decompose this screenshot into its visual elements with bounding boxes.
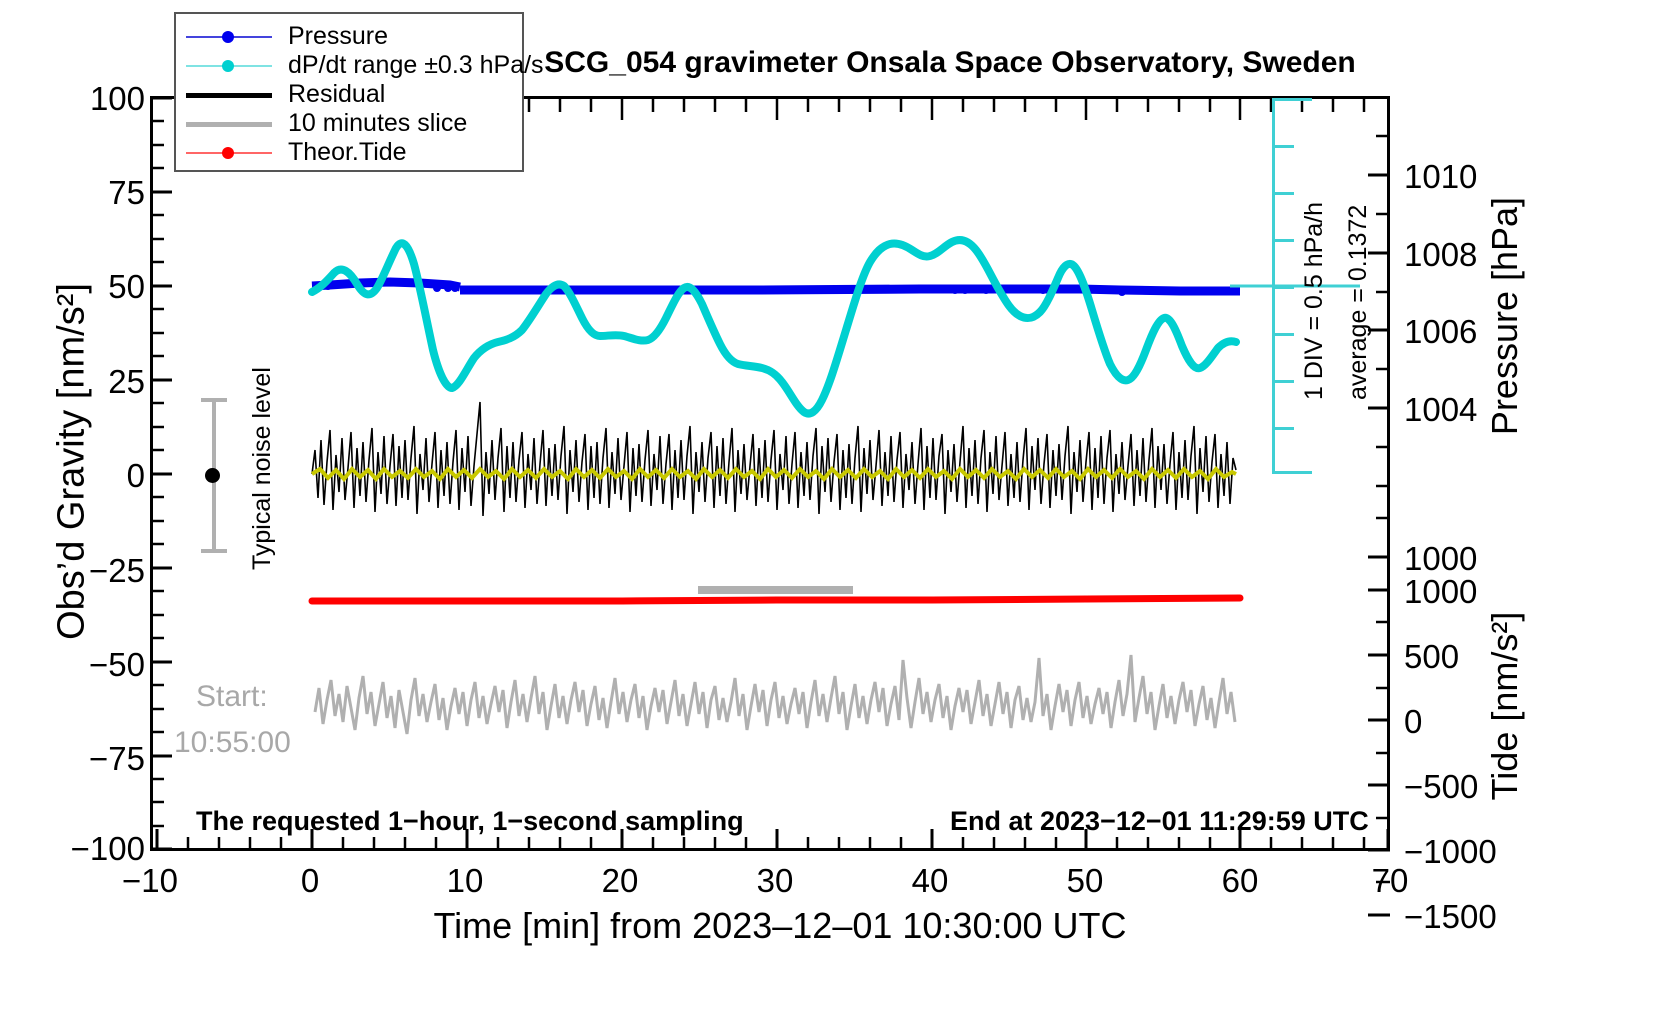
- dpdt-scale-tick: [1272, 333, 1294, 336]
- chart-root: SCG_054 gravimeter Onsala Space Observat…: [0, 0, 1676, 1020]
- dpdt-scale-tick: [1272, 145, 1294, 148]
- start-time: 10:55:00: [174, 726, 291, 760]
- end-note: End at 2023−12−01 11:29:59 UTC: [950, 806, 1369, 837]
- dpdt-scale-tick-top: [1272, 98, 1312, 101]
- legend-item-residual[interactable]: Residual: [186, 80, 512, 109]
- legend-item-slice[interactable]: 10 minutes slice: [186, 109, 512, 138]
- series-theor-tide: [312, 598, 1240, 601]
- dpdt-scale-label: 1 DIV = 0.5 hPa/h: [1300, 202, 1329, 400]
- series-smoothed-residual: [312, 469, 1236, 479]
- legend-swatch-residual: [186, 85, 272, 105]
- legend-item-pressure[interactable]: Pressure: [186, 22, 512, 51]
- series-dpdt: [312, 240, 1236, 413]
- legend-swatch-dpdt: [186, 56, 272, 76]
- noise-level-dot: [205, 468, 220, 483]
- dpdt-scale-tick: [1272, 239, 1294, 242]
- legend-swatch-slice: [186, 114, 272, 134]
- dpdt-scale-tick: [1272, 380, 1294, 383]
- legend-item-theor-tide[interactable]: Theor.Tide: [186, 138, 512, 167]
- start-label: Start:: [196, 680, 268, 714]
- series-residual: [312, 402, 1236, 516]
- legend-label-slice: 10 minutes slice: [288, 109, 467, 138]
- legend-item-dpdt[interactable]: dP/dt range ±0.3 hPa/s: [186, 51, 512, 80]
- legend: Pressure dP/dt range ±0.3 hPa/s Residual…: [174, 12, 524, 172]
- legend-swatch-pressure: [186, 27, 272, 47]
- sampling-note: The requested 1−hour, 1−second sampling: [196, 806, 744, 837]
- legend-label-residual: Residual: [288, 80, 385, 109]
- legend-label-theor-tide: Theor.Tide: [288, 138, 407, 167]
- noise-level-label: Typical noise level: [248, 367, 277, 570]
- dpdt-scale-tick: [1272, 427, 1294, 430]
- dpdt-scale-tick: [1272, 192, 1294, 195]
- dpdt-average-label: average = 0.1372: [1344, 205, 1373, 400]
- noise-level-cap-bottom: [201, 549, 227, 553]
- legend-swatch-theor-tide: [186, 143, 272, 163]
- series-slice-waveform: [315, 655, 1235, 734]
- legend-label-pressure: Pressure: [288, 22, 388, 51]
- legend-label-dpdt: dP/dt range ±0.3 hPa/s: [288, 51, 544, 80]
- dpdt-scale-tick-bottom: [1272, 471, 1312, 474]
